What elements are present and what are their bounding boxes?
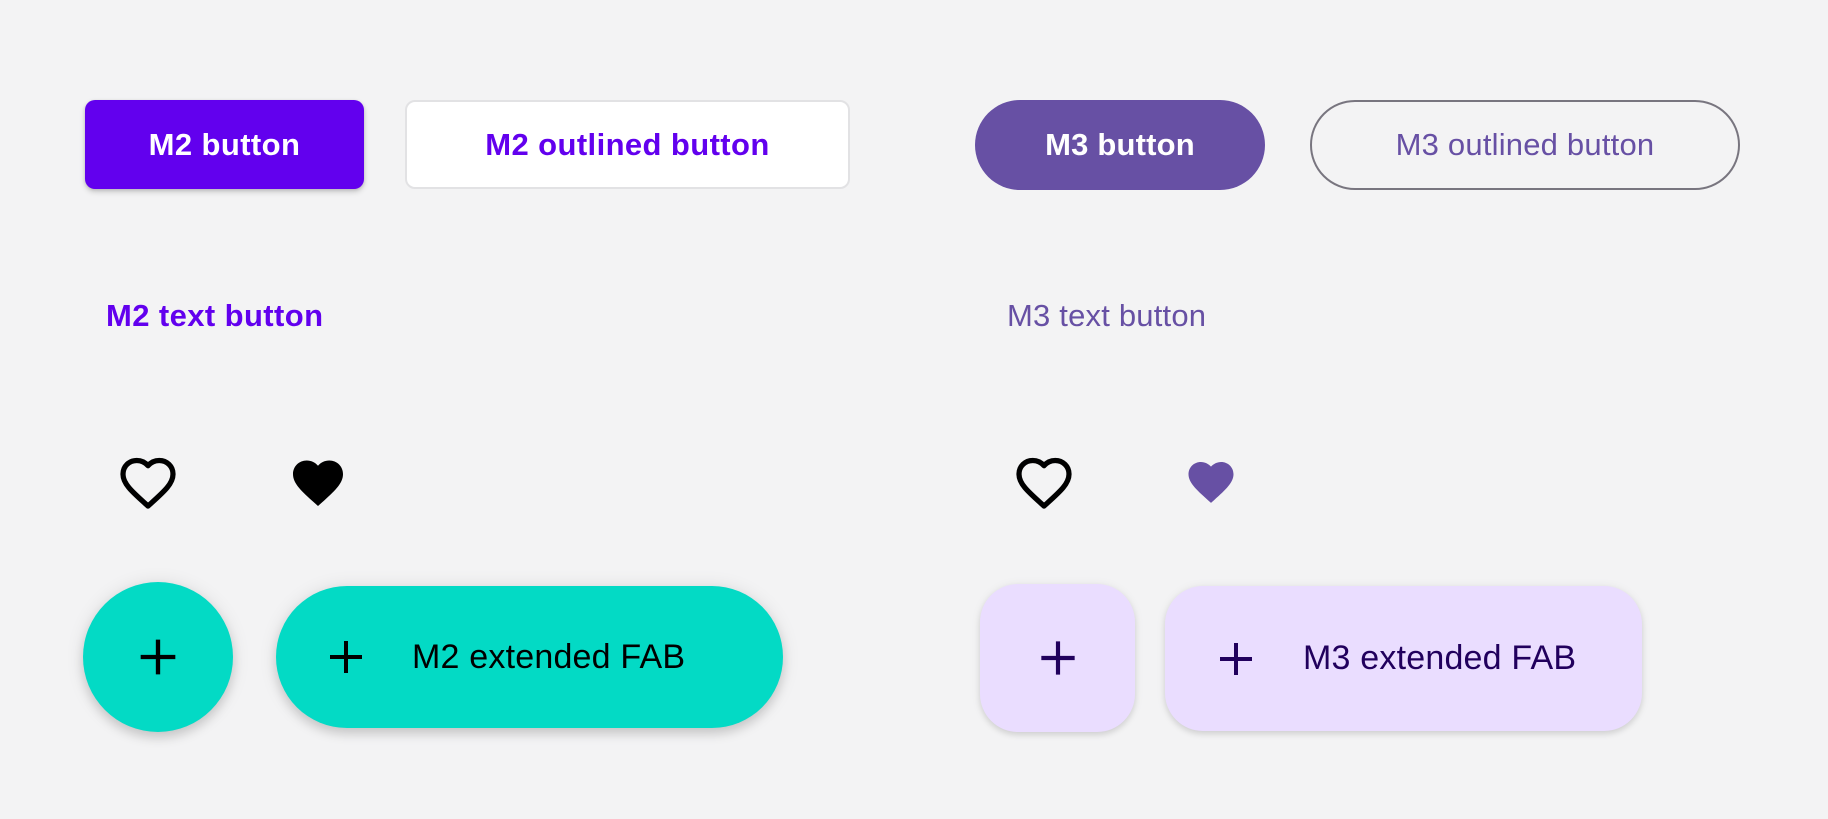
m3-heart-filled-icon-button[interactable] [1184,457,1238,511]
m3-text-button-label: M3 text button [1007,298,1206,334]
m2-outlined-button[interactable]: M2 outlined button [405,100,850,189]
m2-outlined-button-label: M2 outlined button [485,127,769,163]
m3-text-button[interactable]: M3 text button [1007,292,1206,340]
m2-extended-fab[interactable]: M2 extended FAB [276,586,783,728]
heart-filled-icon [1184,457,1238,511]
m2-text-button-label: M2 text button [106,298,323,334]
plus-icon [1212,635,1260,683]
m2-extended-fab-label: M2 extended FAB [412,638,685,677]
heart-outline-icon [118,455,178,515]
m3-extended-fab[interactable]: M3 extended FAB [1165,586,1642,731]
m3-filled-button-label: M3 button [1045,127,1195,163]
m3-outlined-button[interactable]: M3 outlined button [1310,100,1740,190]
m2-heart-filled-icon-button[interactable] [288,455,348,515]
m2-fab[interactable] [83,582,233,732]
heart-outline-icon [1014,455,1074,515]
m2-heart-outline-icon-button[interactable] [118,455,178,515]
m2-text-button[interactable]: M2 text button [106,292,323,340]
plus-icon [132,631,184,683]
m3-extended-fab-label: M3 extended FAB [1303,639,1576,678]
plus-icon [322,633,370,681]
m3-outlined-button-label: M3 outlined button [1396,127,1655,163]
m3-filled-button[interactable]: M3 button [975,100,1265,190]
m3-heart-outline-icon-button[interactable] [1014,455,1074,515]
m2-filled-button-label: M2 button [149,127,301,163]
plus-icon [1033,633,1083,683]
component-showcase: M2 button M2 outlined button M3 button M… [0,0,1828,819]
heart-filled-icon [288,455,348,515]
m3-fab[interactable] [980,584,1135,732]
m2-filled-button[interactable]: M2 button [85,100,364,189]
